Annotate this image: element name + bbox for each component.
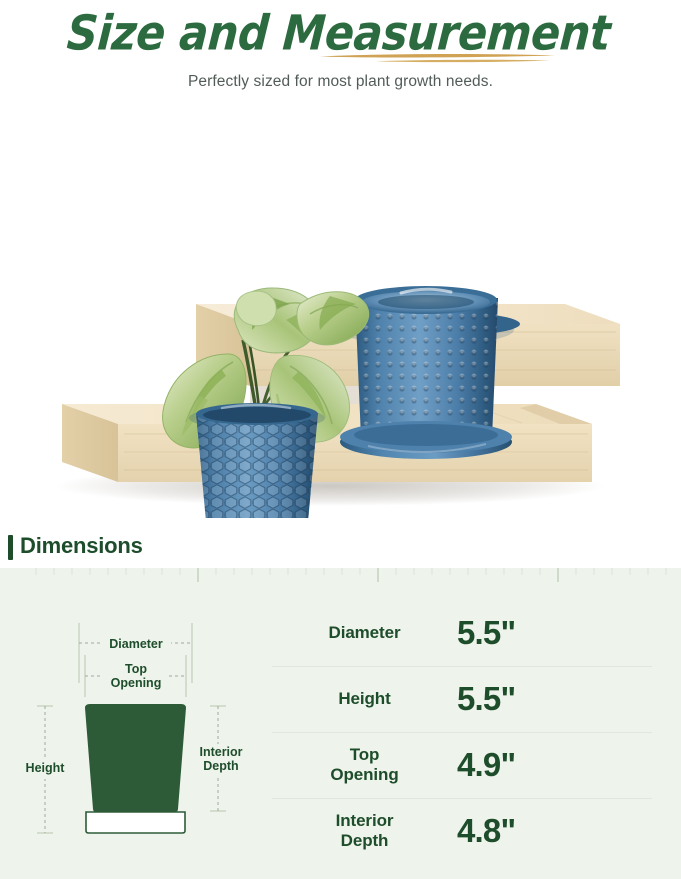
dimension-label-top-opening: Top Opening	[272, 732, 457, 798]
page-subtitle: Perfectly sized for most plant growth ne…	[0, 73, 681, 91]
dimension-value-diameter: 5.5"	[457, 600, 652, 666]
dimension-value-height: 5.5"	[457, 666, 652, 732]
diagram-label-interior-depth-line2: Depth	[203, 759, 238, 773]
pot-dimension-diagram: Diameter Top Opening Height	[6, 613, 268, 863]
dimension-value-interior-depth: 4.8"	[457, 798, 652, 864]
table-row: Interior Depth 4.8"	[272, 798, 652, 864]
hobnail-pot-saucer	[340, 421, 512, 459]
dimension-label-line2: Depth	[341, 831, 389, 850]
product-photo-illustration	[0, 118, 681, 518]
diagram-label-height: Height	[26, 761, 66, 775]
diagram-height-annotation: Height	[16, 706, 74, 833]
dimension-label-line1: Top	[350, 745, 380, 764]
dimensions-panel: Diameter Top Opening Height	[0, 568, 681, 879]
diagram-interior-depth-annotation: Interior Depth	[190, 706, 252, 811]
diagram-label-top-opening-line1: Top	[125, 662, 147, 676]
dimension-label-text: Height	[338, 689, 390, 708]
table-row: Diameter 5.5"	[272, 600, 652, 666]
dimension-label-line1: Interior	[336, 811, 394, 830]
dimensions-table: Diameter 5.5" Height 5.5" Top Opening 4.…	[272, 600, 652, 864]
ruler-strip	[0, 568, 681, 584]
dimensions-accent-bar	[8, 535, 13, 560]
diagram-top-opening-annotation: Top Opening	[85, 655, 186, 697]
product-photo	[0, 118, 681, 518]
dimension-label-height: Height	[272, 666, 457, 732]
dimension-label-line2: Opening	[330, 765, 398, 784]
dimension-value-top-opening: 4.9"	[457, 732, 652, 798]
table-row: Height 5.5"	[272, 666, 652, 732]
diagram-label-diameter: Diameter	[109, 637, 163, 651]
dimension-label-diameter: Diameter	[272, 600, 457, 666]
page-title: Size and Measurement	[0, 6, 681, 62]
table-row: Top Opening 4.9"	[272, 732, 652, 798]
dimension-label-text: Diameter	[329, 623, 401, 642]
dimension-label-interior-depth: Interior Depth	[272, 798, 457, 864]
diagram-pot-shape	[85, 704, 186, 833]
diagram-label-top-opening-line2: Opening	[111, 676, 162, 690]
dimensions-heading: Dimensions	[20, 533, 143, 559]
diagram-label-interior-depth-line1: Interior	[199, 745, 242, 759]
dimensions-heading-row: Dimensions	[0, 533, 681, 565]
header-section: Size and Measurement Perfectly sized for…	[0, 0, 681, 120]
